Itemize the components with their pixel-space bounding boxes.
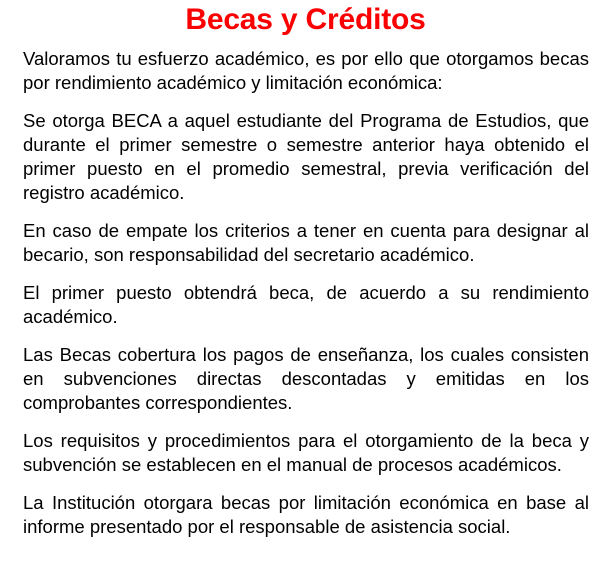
paragraph-beca-merito: Se otorga BECA a aquel estudiante del Pr…	[23, 109, 589, 205]
paragraph-primer-puesto: El primer puesto obtendrá beca, de acuer…	[23, 281, 589, 329]
paragraph-empate: En caso de empate los criterios a tener …	[23, 219, 589, 267]
slide-canvas: Becas y Créditos Valoramos tu esfuerzo a…	[0, 0, 611, 572]
paragraph-cobertura: Las Becas cobertura los pagos de enseñan…	[23, 343, 589, 415]
paragraph-intro: Valoramos tu esfuerzo académico, es por …	[23, 47, 589, 95]
paragraph-limitacion-economica: La Institución otorgara becas por limita…	[23, 491, 589, 539]
body-content: Valoramos tu esfuerzo académico, es por …	[0, 38, 611, 539]
paragraph-requisitos: Los requisitos y procedimientos para el …	[23, 429, 589, 477]
page-title: Becas y Créditos	[0, 0, 611, 38]
